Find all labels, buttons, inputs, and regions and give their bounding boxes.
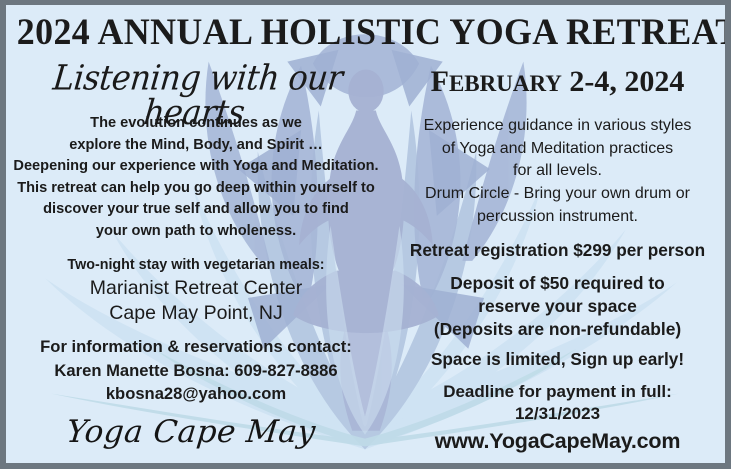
date-month-rest: EBRUARY [449,71,562,96]
intro-line: This retreat can help you go deep within… [6,178,386,200]
stay-lead-label: Two-night stay with vegetarian meals: [6,255,386,276]
description-line: percussion instrument. [384,206,731,229]
registration-price: Retreat registration $299 per person [384,239,731,261]
website-link[interactable]: www.YogaCapeMay.com [384,429,731,455]
contact-heading: For information & reservations contact: [6,335,386,359]
description-line: Experience guidance in various styles [384,115,731,138]
date-heading: FEBRUARY 2-4, 2024 [384,67,731,97]
contact-phone[interactable]: Karen Manette Bosna: 609-827-8886 [6,359,386,383]
description-line: of Yoga and Meditation practices [384,138,731,161]
accommodation-block: Two-night stay with vegetarian meals: Ma… [6,255,386,326]
intro-line: explore the Mind, Body, and Spirit … [6,135,386,157]
deadline-block: Deadline for payment in full: 12/31/2023 [384,381,731,426]
intro-line: The evolution continues as we [6,113,386,135]
intro-paragraph: The evolution continues as we explore th… [6,113,386,243]
contact-block: For information & reservations contact: … [6,335,386,406]
brand-logo-script: Yoga Cape May [4,417,377,448]
venue-location-line: Cape May Point, NJ [6,301,386,326]
deadline-date: 12/31/2023 [384,403,731,425]
intro-line: your own path to wholeness. [6,221,386,243]
flyer-content: 2024 ANNUAL HOLISTIC YOGA RETREAT Listen… [6,5,725,463]
description-paragraph: Experience guidance in various styles of… [384,115,731,229]
description-line: Drum Circle - Bring your own drum or [384,183,731,206]
page-title: 2024 ANNUAL HOLISTIC YOGA RETREAT [17,11,714,54]
description-line: for all levels. [384,160,731,183]
yoga-retreat-flyer: 2024 ANNUAL HOLISTIC YOGA RETREAT Listen… [0,0,731,469]
date-month-initial: F [431,65,449,98]
intro-line: discover your true self and allow you to… [6,199,386,221]
deposit-block: Deposit of $50 required to reserve your … [384,272,731,341]
deposit-line: reserve your space [384,295,731,318]
deposit-line: Deposit of $50 required to [384,272,731,295]
space-limited-notice: Space is limited, Sign up early! [384,348,731,370]
date-days-year: 2-4, 2024 [562,65,685,98]
intro-line: Deepening our experience with Yoga and M… [6,156,386,178]
deposit-refund-note: (Deposits are non-refundable) [384,318,731,341]
contact-email[interactable]: kbosna28@yahoo.com [6,382,386,406]
venue-name-line: Marianist Retreat Center [6,276,386,301]
deadline-label: Deadline for payment in full: [384,381,731,403]
